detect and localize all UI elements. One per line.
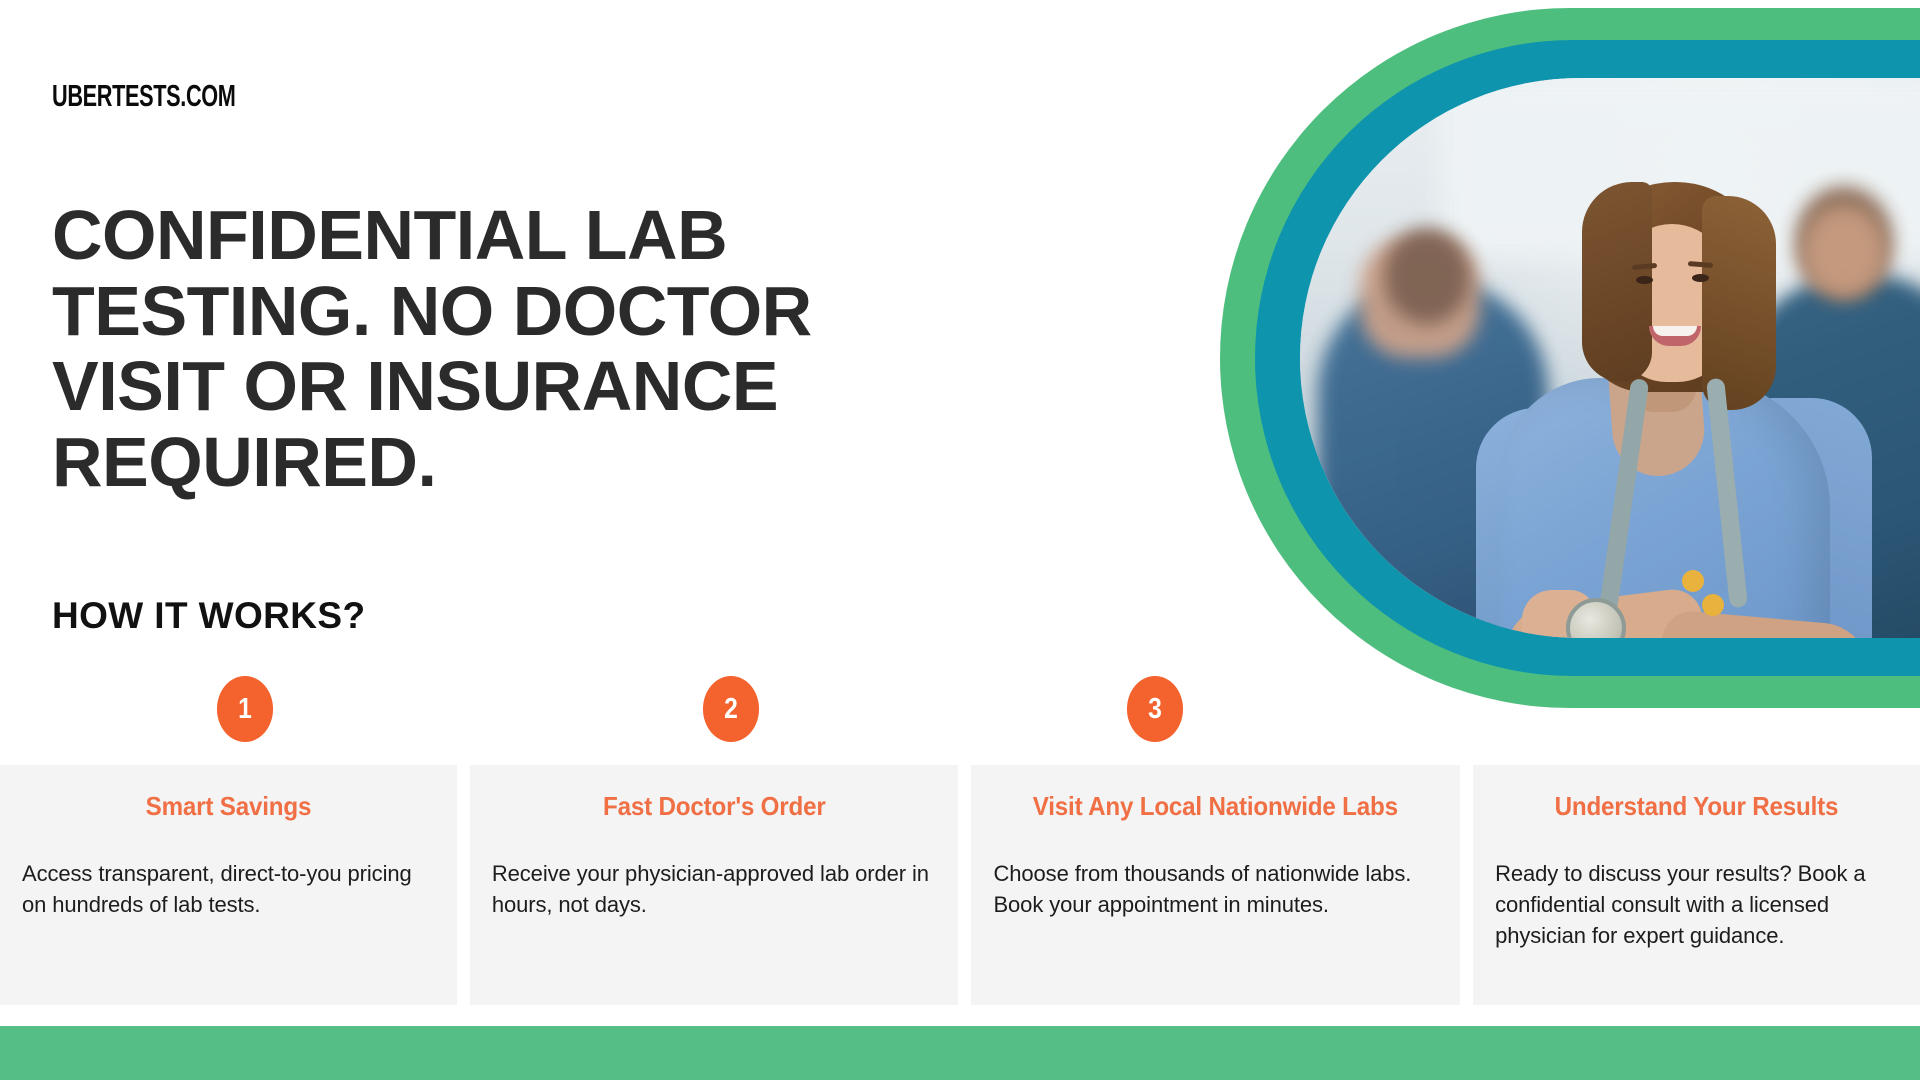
brand-logo[interactable]: UBERTESTS.COM bbox=[52, 78, 236, 114]
headline-line-3: VISIT OR INSURANCE bbox=[52, 349, 1052, 425]
stethoscope-eartip-a bbox=[1682, 570, 1704, 592]
card-body: Choose from thousands of nationwide labs… bbox=[993, 858, 1438, 920]
slide-canvas: UBERTESTS.COM CONFIDENTIAL LAB TESTING. … bbox=[0, 0, 1920, 1080]
photo-bg-colleague-left-head bbox=[1384, 228, 1470, 324]
step-badge-1: 1 bbox=[217, 676, 273, 742]
hero-photo bbox=[1300, 78, 1920, 638]
headline-line-1: CONFIDENTIAL LAB bbox=[52, 198, 1052, 274]
step-badges: 1 2 3 bbox=[0, 676, 1200, 746]
photo-bg-colleague-right-face bbox=[1803, 206, 1885, 298]
card-title: Understand Your Results bbox=[1509, 791, 1884, 822]
headline-line-4: REQUIRED. bbox=[52, 425, 1052, 501]
step-badge-3: 3 bbox=[1127, 676, 1183, 742]
card-title: Fast Doctor's Order bbox=[507, 791, 920, 822]
card-body: Receive your physician-approved lab orde… bbox=[492, 858, 937, 920]
nurse-eye-right bbox=[1692, 274, 1709, 282]
card-title: Visit Any Local Nationwide Labs bbox=[1009, 791, 1422, 822]
feature-card: Smart Savings Access transparent, direct… bbox=[0, 765, 457, 1005]
card-body: Ready to discuss your results? Book a co… bbox=[1495, 858, 1898, 952]
how-it-works-heading: HOW IT WORKS? bbox=[52, 595, 366, 637]
feature-card: Visit Any Local Nationwide Labs Choose f… bbox=[971, 765, 1460, 1005]
page-title: CONFIDENTIAL LAB TESTING. NO DOCTOR VISI… bbox=[52, 198, 1052, 500]
feature-card: Understand Your Results Ready to discuss… bbox=[1473, 765, 1920, 1005]
headline-line-2: TESTING. NO DOCTOR bbox=[52, 274, 1052, 350]
step-badge-2: 2 bbox=[703, 676, 759, 742]
nurse-eye-left bbox=[1636, 276, 1653, 284]
footer-accent-bar bbox=[0, 1026, 1920, 1080]
hero-image-arch bbox=[1220, 0, 1920, 712]
card-title: Smart Savings bbox=[36, 791, 420, 822]
feature-cards: Smart Savings Access transparent, direct… bbox=[0, 765, 1920, 1005]
card-body: Access transparent, direct-to-you pricin… bbox=[22, 858, 435, 920]
stethoscope-eartip-b bbox=[1702, 594, 1724, 616]
feature-card: Fast Doctor's Order Receive your physici… bbox=[470, 765, 959, 1005]
